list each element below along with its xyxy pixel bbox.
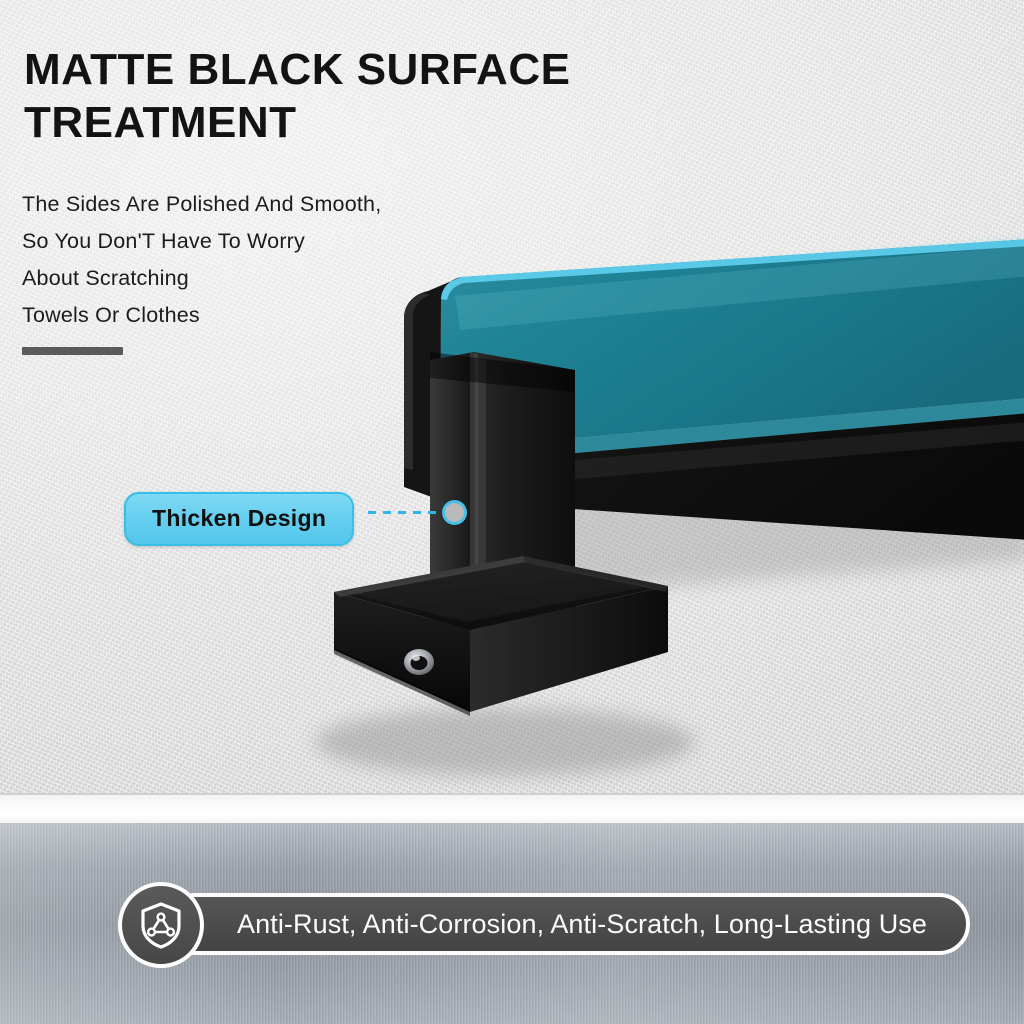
feature-banner: Anti-Rust, Anti-Corrosion, Anti-Scratch,… [165,893,970,955]
accent-rule [22,347,123,355]
feature-banner-text: Anti-Rust, Anti-Corrosion, Anti-Scratch,… [237,909,927,940]
shield-icon [118,882,204,968]
callout-leader-line [368,511,442,514]
subtitle-line: About Scratching [22,260,542,297]
subtitle-line: So You Don'T Have To Worry [22,223,542,260]
subtitle-text: The Sides Are Polished And Smooth,So You… [22,186,542,334]
subtitle-line: Towels Or Clothes [22,297,542,334]
callout-anchor-dot [442,500,467,525]
subtitle-line: The Sides Are Polished And Smooth, [22,186,542,223]
callout-badge-thicken-design: Thicken Design [124,492,354,546]
page-title: MATTE BLACK SURFACE TREATMENT [24,43,724,149]
panel-divider [0,795,1024,823]
product-infographic: MATTE BLACK SURFACE TREATMENT The Sides … [0,0,1024,1024]
shield-glyph [134,898,188,952]
